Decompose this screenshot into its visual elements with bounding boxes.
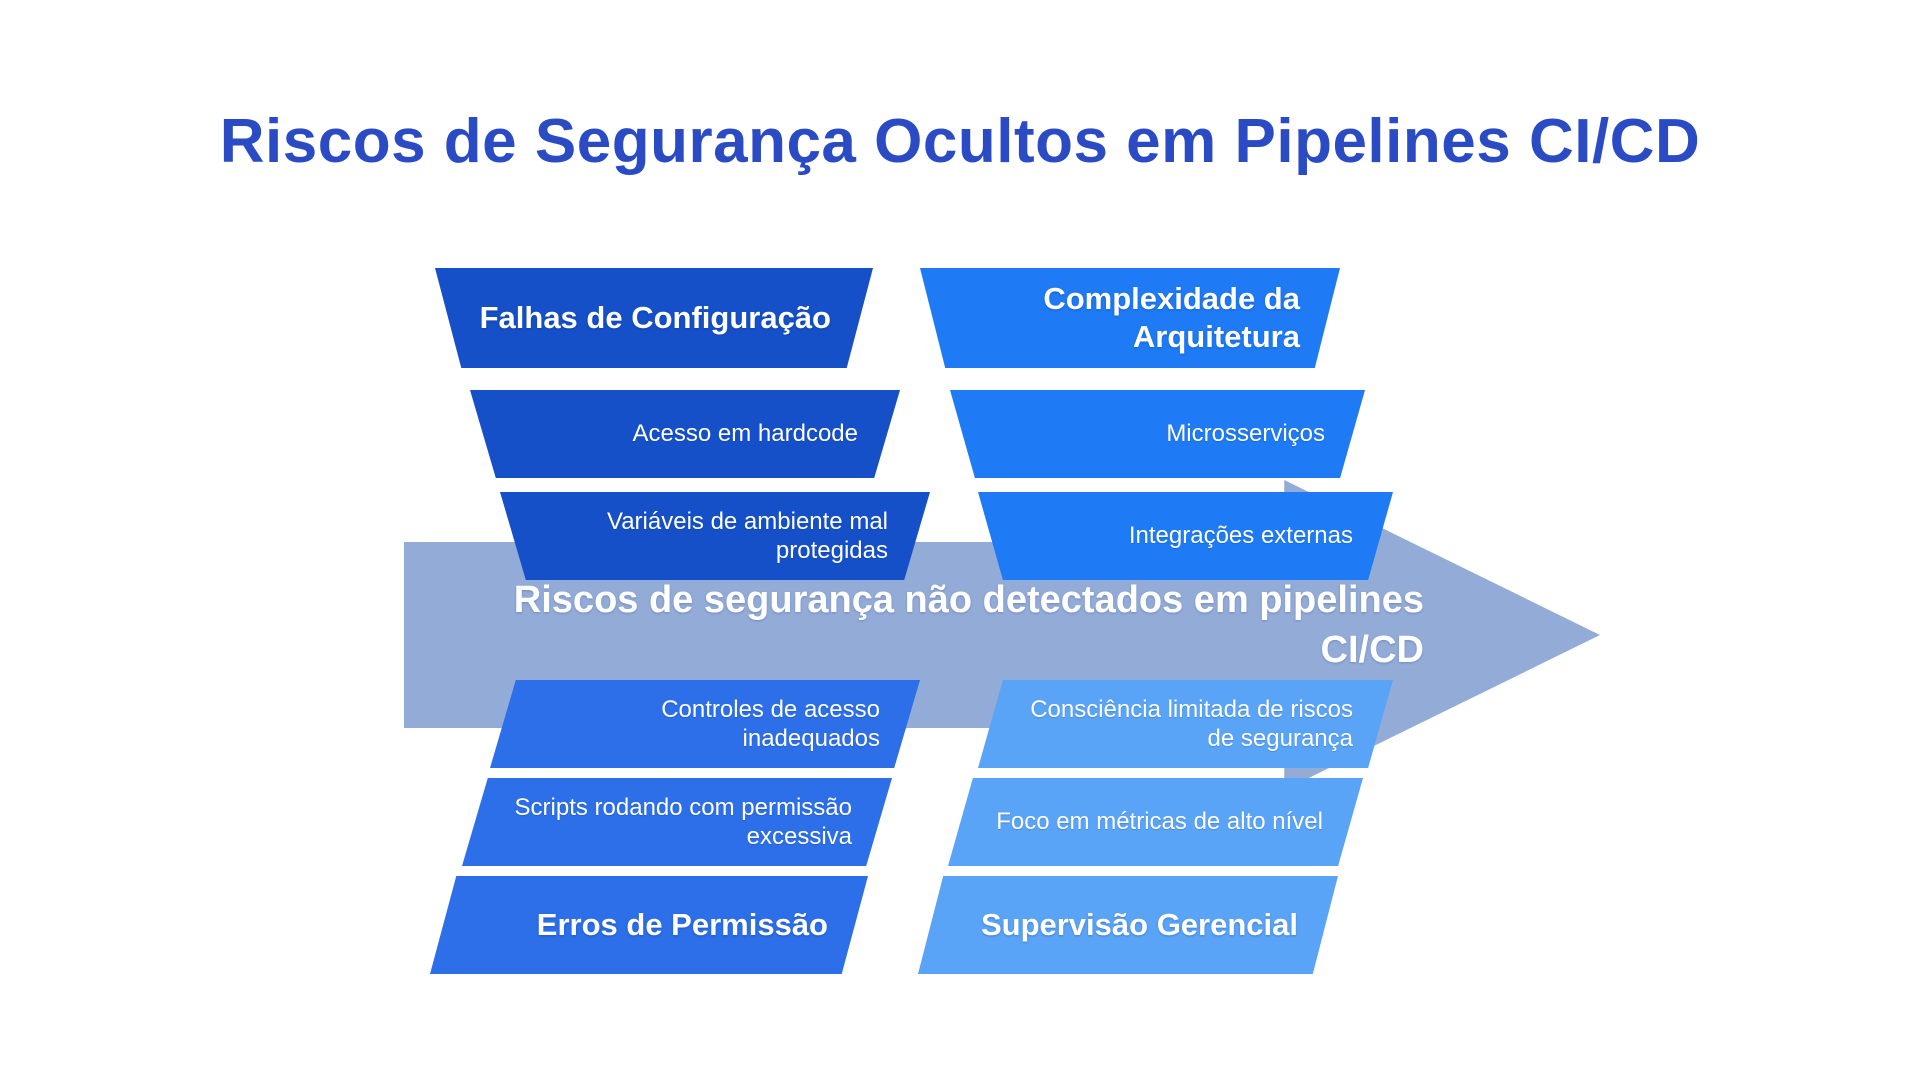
category-item-label: Acesso em hardcode bbox=[504, 419, 858, 448]
category-header-label: Supervisão Gerencial bbox=[952, 906, 1298, 944]
category-item-label: Scripts rodando com permissão excessiva bbox=[496, 793, 852, 852]
category-item-variaveis-de-ambiente-mal-protegidas[interactable]: Variáveis de ambiente mal protegidas bbox=[500, 492, 930, 580]
category-item-scripts-rodando-com-permissao-excessiva[interactable]: Scripts rodando com permissão excessiva bbox=[462, 778, 892, 866]
category-item-acesso-em-hardcode[interactable]: Acesso em hardcode bbox=[470, 390, 900, 478]
arrow-label-line-2: CI/CD bbox=[424, 625, 1424, 675]
category-item-foco-em-metricas-de-alto-nivel[interactable]: Foco em métricas de alto nível bbox=[948, 778, 1363, 866]
category-item-microsservicos[interactable]: Microsserviços bbox=[950, 390, 1365, 478]
category-header-falhas-de-configuracao[interactable]: Falhas de Configuração bbox=[435, 268, 873, 368]
arrow-label-line-1: Riscos de segurança não detectados em pi… bbox=[424, 575, 1424, 625]
category-item-label: Microsserviços bbox=[984, 419, 1325, 448]
category-header-label: Falhas de Configuração bbox=[469, 299, 831, 337]
arrow-label: Riscos de segurança não detectados em pi… bbox=[424, 575, 1424, 675]
category-item-label: Controles de acesso inadequados bbox=[524, 695, 880, 754]
category-header-complexidade-da-arquitetura[interactable]: Complexidade da Arquitetura bbox=[920, 268, 1340, 368]
category-item-consciencia-limitada-de-riscos-de-seguranca[interactable]: Consciência limitada de riscos de segura… bbox=[978, 680, 1393, 768]
category-item-controles-de-acesso-inadequados[interactable]: Controles de acesso inadequados bbox=[490, 680, 920, 768]
category-header-label: Erros de Permissão bbox=[464, 906, 828, 944]
category-header-supervisao-gerencial[interactable]: Supervisão Gerencial bbox=[918, 876, 1338, 974]
category-item-label: Foco em métricas de alto nível bbox=[982, 807, 1323, 836]
slide-canvas: Riscos de Segurança Ocultos em Pipelines… bbox=[0, 0, 1920, 1080]
category-item-label: Integrações externas bbox=[1012, 521, 1353, 550]
category-item-integracoes-externas[interactable]: Integrações externas bbox=[978, 492, 1393, 580]
category-header-erros-de-permissao[interactable]: Erros de Permissão bbox=[430, 876, 868, 974]
category-header-label: Complexidade da Arquitetura bbox=[954, 280, 1300, 356]
category-item-label: Variáveis de ambiente mal protegidas bbox=[534, 507, 888, 566]
category-item-label: Consciência limitada de riscos de segura… bbox=[1012, 695, 1353, 754]
page-title: Riscos de Segurança Ocultos em Pipelines… bbox=[0, 108, 1920, 176]
